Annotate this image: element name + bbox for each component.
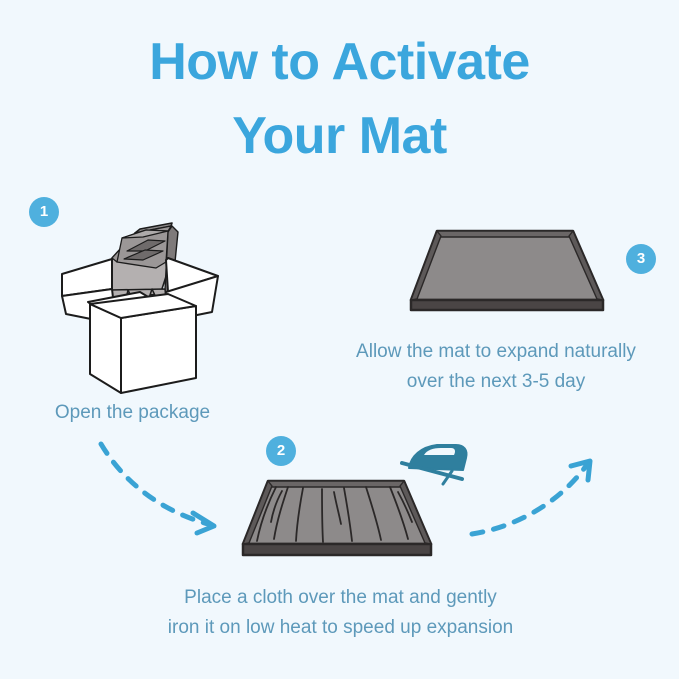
step-1-caption: Open the package [10, 398, 255, 428]
step-3-caption-line-2: over the next 3-5 day [310, 367, 679, 397]
step-1-caption-line-1: Open the package [10, 398, 255, 428]
step-3-badge: 3 [626, 244, 656, 274]
step-2-caption: Place a cloth over the mat and gently ir… [113, 583, 568, 643]
box-flaps-shape [62, 258, 218, 324]
how-to-activate-mat-infographic: How to Activate Your Mat [0, 0, 679, 679]
box-body-shape [90, 294, 196, 393]
packed-mat-shape [108, 223, 178, 304]
step-2-badge: 2 [266, 436, 296, 466]
arrow-step2-to-step3 [472, 461, 590, 534]
cloth-wrinkles [257, 487, 412, 542]
page-title: How to Activate Your Mat [0, 26, 679, 174]
title-line-2: Your Mat [0, 100, 679, 174]
step-3-caption-line-1: Allow the mat to expand naturally [310, 337, 679, 367]
title-line-1: How to Activate [0, 26, 679, 100]
step-2-caption-line-2: iron it on low heat to speed up expansio… [113, 613, 568, 643]
step-3-caption: Allow the mat to expand naturally over t… [310, 337, 679, 397]
step-1-badge: 1 [29, 197, 59, 227]
flat-expanded-mat-icon [411, 231, 603, 310]
arrow-step1-to-step2 [101, 444, 214, 533]
step-2-caption-line-1: Place a cloth over the mat and gently [113, 583, 568, 613]
mat-with-cloth-icon [243, 481, 431, 555]
open-box-with-mat-icon [62, 223, 218, 393]
iron-icon [402, 445, 467, 484]
